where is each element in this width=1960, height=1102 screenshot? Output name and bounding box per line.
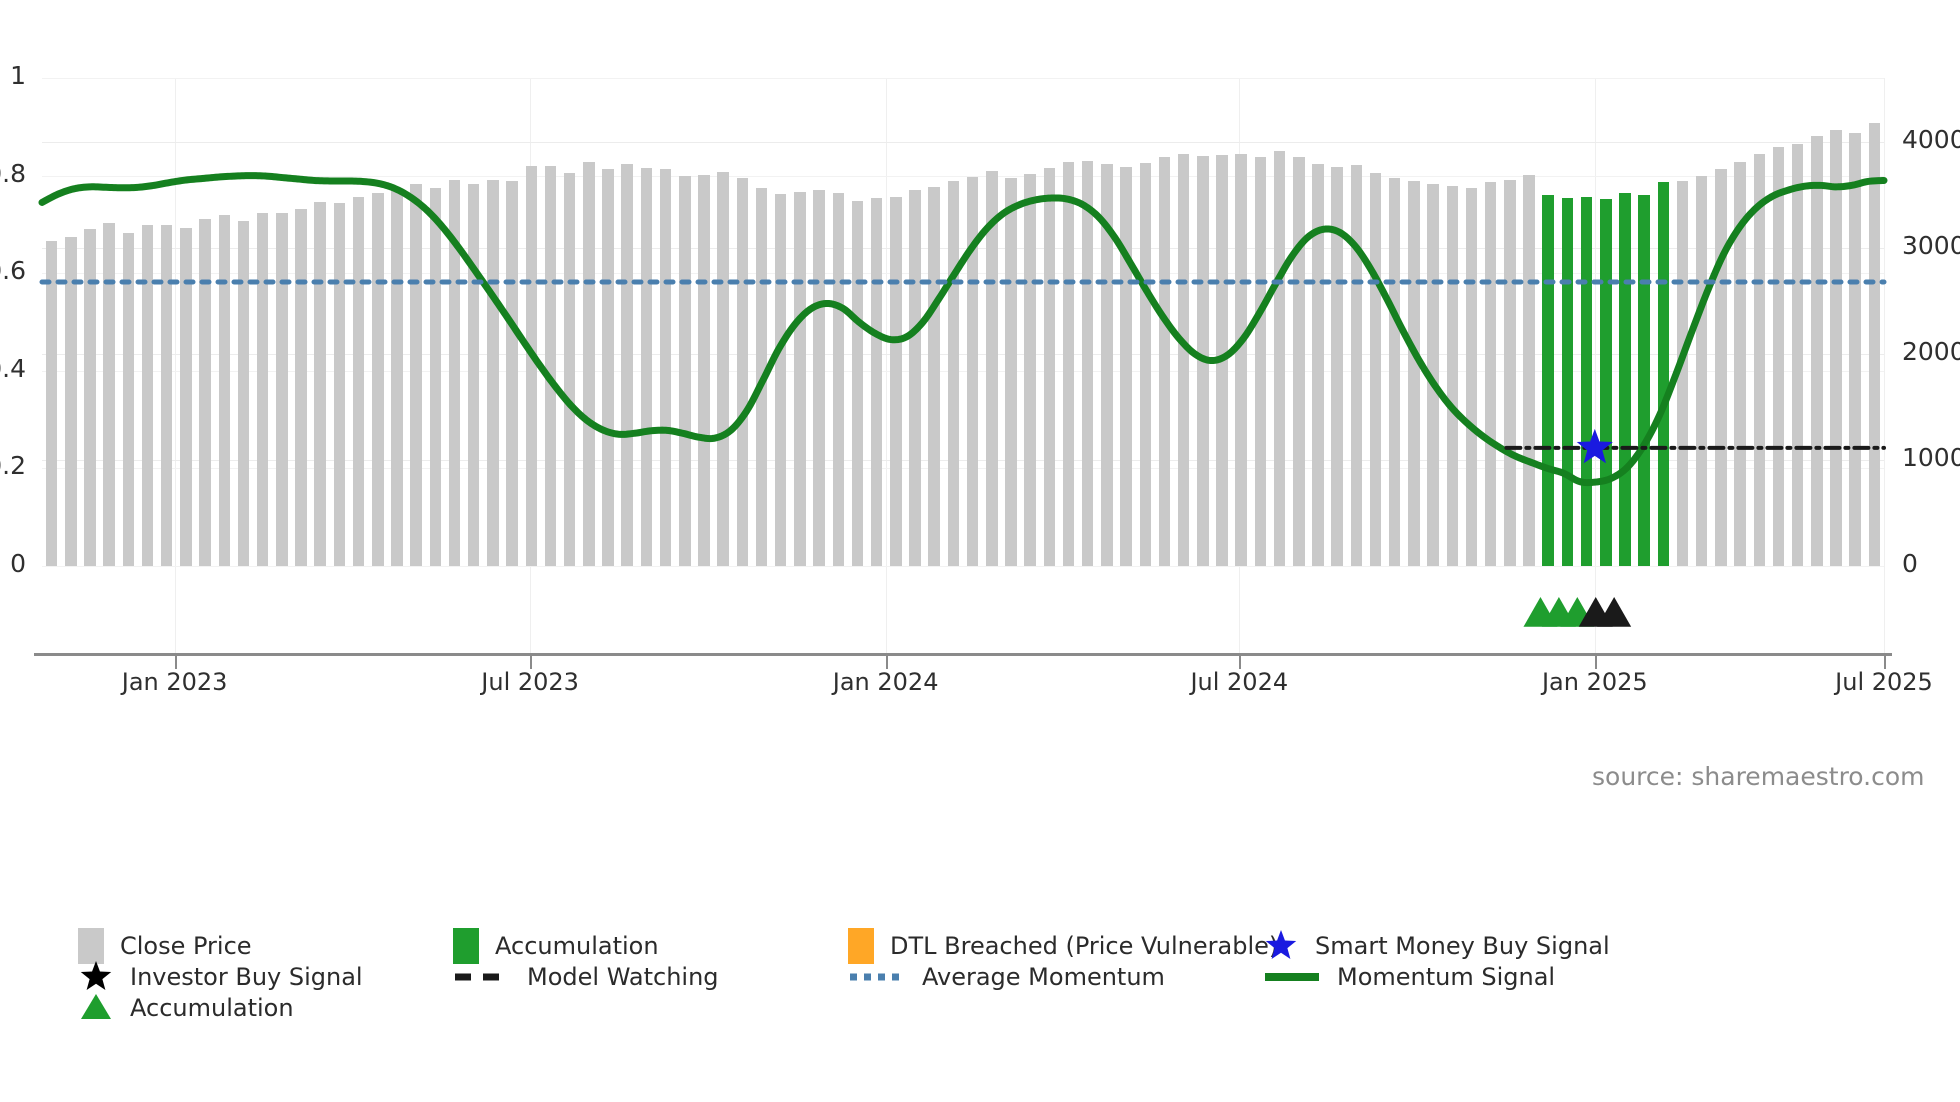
y-axis-left-tick: 1 — [0, 61, 26, 90]
legend-label: Average Momentum — [922, 963, 1165, 991]
legend-label: Investor Buy Signal — [130, 963, 363, 991]
y-axis-left-tick: 0 — [0, 549, 26, 578]
x-axis-line — [34, 653, 1892, 656]
legend-label: Momentum Signal — [1337, 963, 1555, 991]
y-axis-right-tick: 2000 — [1902, 337, 1960, 366]
legend-label: Smart Money Buy Signal — [1315, 932, 1610, 960]
y-axis-right-tick: 1000 — [1902, 443, 1960, 472]
x-gridline — [1884, 78, 1885, 653]
y-axis-left-tick: 0.2 — [0, 451, 26, 480]
chart-figure: 00.20.40.60.81 01000200030004000 Jan 202… — [0, 0, 1960, 1102]
y-axis-right-tick: 4000 — [1902, 125, 1960, 154]
source-credit: source: sharemaestro.com — [1592, 762, 1925, 791]
legend-label: Accumulation — [495, 932, 659, 960]
legend-label: Model Watching — [527, 963, 719, 991]
y-axis-left-tick: 0.4 — [0, 354, 26, 383]
momentum-signal-line — [42, 176, 1884, 483]
x-axis-tick-mark — [1884, 656, 1886, 669]
legend-row: Investor Buy SignalModel WatchingAverage… — [78, 959, 1548, 990]
legend-row: Close PriceAccumulationDTL Breached (Pri… — [78, 928, 1548, 959]
legend-row: Accumulation — [78, 990, 1548, 1021]
legend-item-accumulation-triangle[interactable]: Accumulation — [78, 990, 294, 1026]
legend-label: Close Price — [120, 932, 252, 960]
chart-legend: Close PriceAccumulationDTL Breached (Pri… — [78, 928, 1548, 1021]
triangle-icon — [78, 990, 114, 1026]
legend-label: DTL Breached (Price Vulnerable) — [890, 932, 1278, 960]
y-axis-right-tick: 0 — [1902, 549, 1918, 578]
plot-area — [42, 78, 1884, 566]
chart-overlay — [42, 78, 1884, 686]
y-axis-right-tick: 3000 — [1902, 231, 1960, 260]
legend-label: Accumulation — [130, 994, 294, 1022]
y-axis-left-tick: 0.6 — [0, 256, 26, 285]
y-axis-left-tick: 0.8 — [0, 159, 26, 188]
smart-money-buy-signal-marker — [1577, 429, 1613, 463]
